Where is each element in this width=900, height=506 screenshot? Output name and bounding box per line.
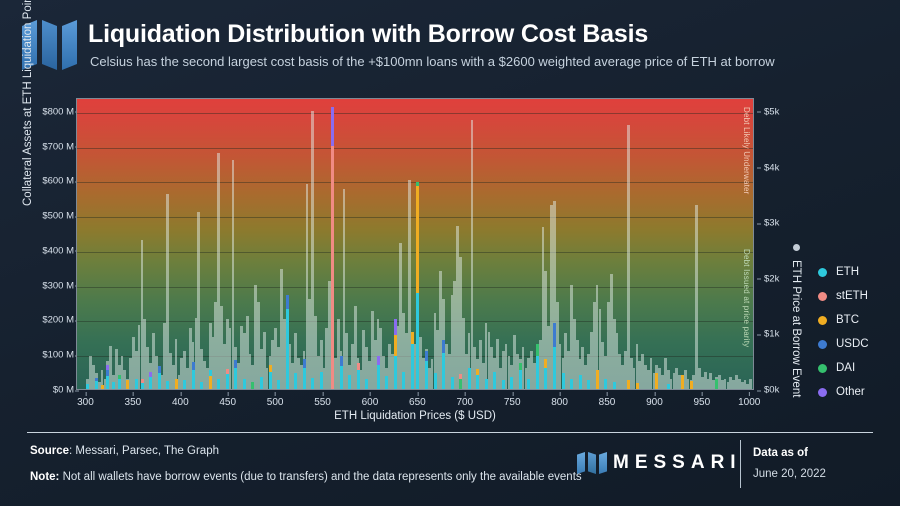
page-title: Liquidation Distribution with Borrow Cos… <box>88 20 648 49</box>
legend-item-dai[interactable]: DAI <box>818 356 869 380</box>
asset-bar-segment-eth <box>234 368 237 389</box>
asset-bar-segment-eth <box>377 365 380 389</box>
asset-bar-segment-eth <box>135 379 138 389</box>
asset-bar <box>106 365 109 389</box>
source-label: Source <box>30 445 69 457</box>
y2-axis-tick: $0k <box>764 385 779 396</box>
asset-bar-segment-steth <box>331 146 334 389</box>
x-axis-tick: 700 <box>456 397 473 408</box>
asset-bar <box>485 379 488 389</box>
asset-bar-segment-eth <box>451 377 454 389</box>
messari-footer-logo-icon <box>577 452 607 474</box>
asset-bar-segment-eth <box>192 370 195 389</box>
asset-bar <box>158 366 161 389</box>
asset-bar-segment-other <box>331 107 334 145</box>
asset-bar <box>596 370 599 389</box>
x-axis-tick: 300 <box>77 397 94 408</box>
asset-bar-segment-eth <box>604 379 607 389</box>
asset-bar <box>604 379 607 389</box>
x-axis-title: ETH Liquidation Prices ($ USD) <box>76 410 754 422</box>
legend-item-steth[interactable]: stETH <box>818 284 869 308</box>
y-axis-tick: $0 M <box>53 385 74 396</box>
zone-annotation-underwater: Debt Likely Underwater <box>742 107 751 195</box>
asset-bar-segment-eth <box>493 372 496 389</box>
y-axis-tick: $400 M <box>42 245 74 256</box>
asset-bar <box>226 369 229 389</box>
legend-swatch-icon <box>818 340 827 349</box>
messari-wordmark: MESSARI <box>613 452 742 474</box>
asset-bar <box>627 380 630 389</box>
asset-bar <box>234 360 237 389</box>
legend-swatch-icon <box>818 268 827 277</box>
asset-bar-segment-eth <box>209 370 212 376</box>
legend-label: BTC <box>836 314 859 326</box>
asset-bar <box>510 377 513 389</box>
asset-bar-segment-other <box>106 365 109 369</box>
eth-price-marker-icon <box>793 244 800 251</box>
asset-bar-segment-eth <box>570 379 573 389</box>
asset-bar-segment-eth <box>294 373 297 389</box>
x-axis-tick: 650 <box>409 397 426 408</box>
asset-bar-segment-btc <box>544 359 547 368</box>
asset-bar <box>175 379 178 389</box>
legend-swatch-icon <box>818 364 827 373</box>
asset-bar <box>468 368 471 389</box>
x-axis-tick: 800 <box>551 397 568 408</box>
asset-bar-segment-usdc <box>192 362 195 370</box>
asset-bar-segment-btc <box>416 186 419 294</box>
asset-bar-segment-btc <box>690 381 693 389</box>
asset-bar-segment-dai <box>416 182 419 186</box>
asset-bar <box>149 372 152 389</box>
asset-bar-segment-other <box>394 319 397 335</box>
zone-annotation-parity: Debt Issued at price parity <box>742 249 751 347</box>
asset-bar-segment-eth <box>158 373 161 389</box>
asset-bar-segment-btc <box>636 383 639 389</box>
asset-bar-segment-eth <box>553 347 556 389</box>
asset-bar-segment-eth <box>303 368 306 389</box>
asset-bar <box>192 362 195 389</box>
asset-bar <box>394 319 397 389</box>
asset-bar <box>183 380 186 389</box>
asset-bar-segment-eth <box>442 353 445 390</box>
asset-bar-segment-btc <box>175 379 178 389</box>
asset-bar-segment-eth <box>613 382 616 389</box>
asset-bar-segment-eth <box>286 309 289 389</box>
y-axis-tick: $600 M <box>42 176 74 187</box>
legend-item-btc[interactable]: BTC <box>818 308 869 332</box>
asset-bar <box>459 374 462 389</box>
data-as-of-value: June 20, 2022 <box>753 468 826 480</box>
asset-bar-segment-eth <box>544 368 547 389</box>
asset-bar-segment-eth <box>86 384 89 389</box>
asset-bar <box>544 359 547 389</box>
asset-bar-segment-usdc <box>553 323 556 347</box>
asset-bar-segment-eth <box>217 379 220 389</box>
asset-bar-segment-eth <box>269 372 272 389</box>
legend-label: stETH <box>836 290 868 302</box>
data-as-of-label: Data as of <box>753 447 808 459</box>
asset-bar <box>425 351 428 389</box>
asset-bar <box>126 380 129 389</box>
asset-bar-segment-usdc <box>442 340 445 352</box>
asset-bar-segment-eth <box>112 382 115 389</box>
asset-bar <box>311 378 314 389</box>
asset-bar <box>286 295 289 389</box>
asset-bar-segment-btc <box>627 380 630 389</box>
y2-axis-tick: $2k <box>764 273 779 284</box>
asset-bar <box>416 181 419 389</box>
x-axis-tick: 350 <box>125 397 142 408</box>
asset-bar-segment-usdc <box>286 295 289 309</box>
asset-bar <box>294 373 297 389</box>
asset-bar-segment-eth <box>365 379 368 389</box>
asset-bar <box>277 380 280 389</box>
asset-bar-segment-eth <box>311 378 314 389</box>
asset-bar-segment-eth <box>95 381 98 389</box>
asset-bar-segment-eth <box>411 344 414 389</box>
legend-label: USDC <box>836 338 869 350</box>
asset-bar <box>519 363 522 389</box>
y-axis-tick: $700 M <box>42 141 74 152</box>
asset-bar <box>101 385 104 389</box>
asset-bar-segment-eth <box>468 368 471 389</box>
legend-label: Other <box>836 386 865 398</box>
asset-bar-segment-eth <box>243 379 246 389</box>
source-line: Source: Messari, Parsec, The Graph <box>30 445 219 457</box>
x-axis-tick: 400 <box>172 397 189 408</box>
x-axis-tick: 500 <box>267 397 284 408</box>
asset-bar-segment-eth <box>510 377 513 389</box>
y2-axis-tick: $1k <box>764 329 779 340</box>
asset-bar-segment-eth <box>385 376 388 389</box>
asset-bar-segment-eth <box>348 375 351 389</box>
asset-bar-segment-eth <box>667 384 670 389</box>
asset-bar-segment-eth <box>200 382 203 389</box>
asset-bar <box>655 373 658 389</box>
asset-bar-segment-other <box>377 356 380 365</box>
asset-bar <box>570 379 573 389</box>
asset-bar-segment-eth <box>502 380 505 389</box>
asset-bar-segment-dai <box>251 382 254 389</box>
asset-bar-segment-eth <box>485 379 488 389</box>
asset-bar <box>476 369 479 389</box>
asset-bar-segment-btc <box>596 370 599 389</box>
asset-bar <box>320 372 323 389</box>
asset-bar-segment-eth <box>434 373 437 389</box>
asset-bar-segment-btc <box>209 376 212 389</box>
asset-bar-segment-usdc <box>340 356 343 366</box>
asset-bar-segment-eth <box>277 380 280 389</box>
asset-bar-segment-dai <box>536 344 539 356</box>
asset-bar-segment-btc <box>394 335 397 356</box>
asset-bar <box>442 340 445 389</box>
asset-bar-segment-eth <box>587 380 590 389</box>
asset-bar <box>411 332 414 389</box>
legend: ETHstETHBTCUSDCDAIOther <box>818 260 869 404</box>
x-axis-tick: 600 <box>362 397 379 408</box>
asset-bar <box>348 375 351 389</box>
asset-bar <box>303 359 306 389</box>
legend-label: DAI <box>836 362 855 374</box>
asset-bar <box>200 382 203 389</box>
asset-bar-segment-eth <box>527 379 530 389</box>
x-axis-tick: 950 <box>694 397 711 408</box>
x-axis-tick: 1000 <box>738 397 760 408</box>
asset-bar <box>613 382 616 389</box>
asset-bar-segment-btc <box>126 380 129 389</box>
asset-bar <box>377 356 380 389</box>
legend-swatch-icon <box>818 388 827 397</box>
asset-bar-segment-btc <box>681 375 684 389</box>
legend-swatch-icon <box>818 292 827 301</box>
asset-bar-segment-eth <box>536 356 539 389</box>
asset-bar-segment-usdc <box>106 370 109 376</box>
asset-bar <box>667 384 670 389</box>
asset-bar <box>690 381 693 389</box>
asset-bar-segment-eth <box>320 372 323 389</box>
asset-bar <box>715 379 718 389</box>
asset-bar <box>502 380 505 389</box>
asset-bar <box>118 375 121 389</box>
y2-axis-tick: $4k <box>764 162 779 173</box>
asset-bar-segment-steth <box>357 363 360 370</box>
asset-bar-segment-btc <box>269 365 272 371</box>
asset-bar <box>95 378 98 389</box>
asset-bar-segment-eth <box>183 380 186 389</box>
y-axis-tick: $800 M <box>42 106 74 117</box>
asset-bar-segment-eth <box>149 377 152 389</box>
asset-bar <box>385 376 388 389</box>
asset-bar-segment-usdc <box>158 366 161 373</box>
asset-bar-segment-usdc <box>95 378 98 381</box>
legend-item-other[interactable]: Other <box>818 380 869 404</box>
y-axis-ticks: $0 M$100 M$200 M$300 M$400 M$500 M$600 M… <box>30 88 74 418</box>
asset-bar-segment-btc <box>476 369 479 375</box>
asset-bar <box>493 372 496 389</box>
asset-bar <box>251 382 254 389</box>
asset-bar <box>243 379 246 389</box>
asset-bar-segment-usdc <box>425 351 428 361</box>
footer-vertical-divider <box>740 440 741 488</box>
asset-bar <box>365 379 368 389</box>
x-axis-tick: 450 <box>219 397 236 408</box>
asset-bar <box>269 365 272 389</box>
asset-bar <box>141 379 144 389</box>
footer-divider <box>27 432 873 433</box>
asset-bar-segment-dai <box>118 375 121 378</box>
asset-bar-segment-eth <box>402 372 405 389</box>
asset-bar-segment-eth <box>141 383 144 389</box>
asset-bar-segment-eth <box>416 293 419 389</box>
legend-item-usdc[interactable]: USDC <box>818 332 869 356</box>
note-line: Note: Not all wallets have borrow events… <box>30 471 582 483</box>
asset-bar <box>112 382 115 389</box>
asset-bar <box>166 381 169 389</box>
asset-bar-segment-eth <box>166 381 169 389</box>
y-axis-tick: $500 M <box>42 211 74 222</box>
asset-bar <box>681 375 684 389</box>
asset-bar <box>527 379 530 389</box>
plot-area: Debt Likely Underwater Debt Issued at pr… <box>76 98 754 390</box>
asset-bar-segment-dai <box>715 379 718 389</box>
x-axis-tick: 550 <box>314 397 331 408</box>
legend-swatch-icon <box>818 316 827 325</box>
asset-bar-segment-btc <box>655 373 658 389</box>
asset-bar-segment-eth <box>476 375 479 389</box>
asset-bar-segment-eth <box>562 373 565 389</box>
asset-bar <box>217 379 220 389</box>
page-subtitle: Celsius has the second largest cost basi… <box>90 54 775 69</box>
asset-bar-segment-eth <box>340 366 343 389</box>
x-axis-tick: 750 <box>504 397 521 408</box>
x-axis-tick: 850 <box>599 397 616 408</box>
chart-area: Collateral Assets at ETH Liquidation Poi… <box>0 88 900 418</box>
y2-axis-title: ETH Price at Borrow Event <box>790 260 802 397</box>
y2-axis-tick: $5k <box>764 106 779 117</box>
asset-bar-segment-steth <box>141 379 144 383</box>
y-axis-tick: $200 M <box>42 315 74 326</box>
asset-bar <box>579 375 582 389</box>
asset-bars <box>77 99 753 389</box>
source-value: : Messari, Parsec, The Graph <box>69 445 219 457</box>
legend-label: ETH <box>836 266 859 278</box>
asset-bar-segment-eth <box>394 356 397 389</box>
asset-bar <box>135 379 138 389</box>
asset-bar-segment-eth <box>226 374 229 389</box>
asset-bar <box>451 377 454 389</box>
y2-axis-tick: $3k <box>764 218 779 229</box>
asset-bar-segment-eth <box>118 379 121 389</box>
asset-bar <box>536 344 539 389</box>
asset-bar-segment-usdc <box>303 359 306 368</box>
asset-bar-segment-dai <box>519 363 522 370</box>
asset-bar-segment-eth <box>579 375 582 389</box>
asset-bar <box>562 373 565 389</box>
asset-bar <box>402 372 405 389</box>
asset-bar-segment-usdc <box>234 360 237 368</box>
asset-bar-segment-btc <box>101 385 104 389</box>
header: Liquidation Distribution with Borrow Cos… <box>0 0 900 88</box>
asset-bar <box>434 373 437 389</box>
asset-bar <box>357 363 360 389</box>
asset-bar-segment-dai <box>459 379 462 389</box>
asset-bar <box>209 370 212 389</box>
legend-item-eth[interactable]: ETH <box>818 260 869 284</box>
asset-bar <box>553 323 556 389</box>
asset-bar <box>587 380 590 389</box>
asset-bar-segment-eth <box>260 377 263 389</box>
note-label: Note: <box>30 471 59 483</box>
asset-bar-segment-eth <box>357 370 360 389</box>
asset-bar <box>340 356 343 389</box>
asset-bar <box>86 384 89 389</box>
asset-bar <box>636 383 639 389</box>
asset-bar-segment-steth <box>226 369 229 375</box>
x-axis-tick: 900 <box>646 397 663 408</box>
y-axis-tick: $300 M <box>42 280 74 291</box>
asset-bar-segment-eth <box>519 370 522 389</box>
y-axis-tick: $100 M <box>42 350 74 361</box>
asset-bar-segment-btc <box>411 332 414 344</box>
asset-bar <box>331 107 334 389</box>
note-value: Not all wallets have borrow events (due … <box>59 471 581 483</box>
asset-bar-segment-steth <box>459 374 462 379</box>
asset-bar <box>260 377 263 389</box>
chart-page: Liquidation Distribution with Borrow Cos… <box>0 0 900 506</box>
asset-bar-segment-other <box>149 372 152 377</box>
asset-bar-segment-eth <box>106 376 109 389</box>
asset-bar-segment-eth <box>425 361 428 389</box>
